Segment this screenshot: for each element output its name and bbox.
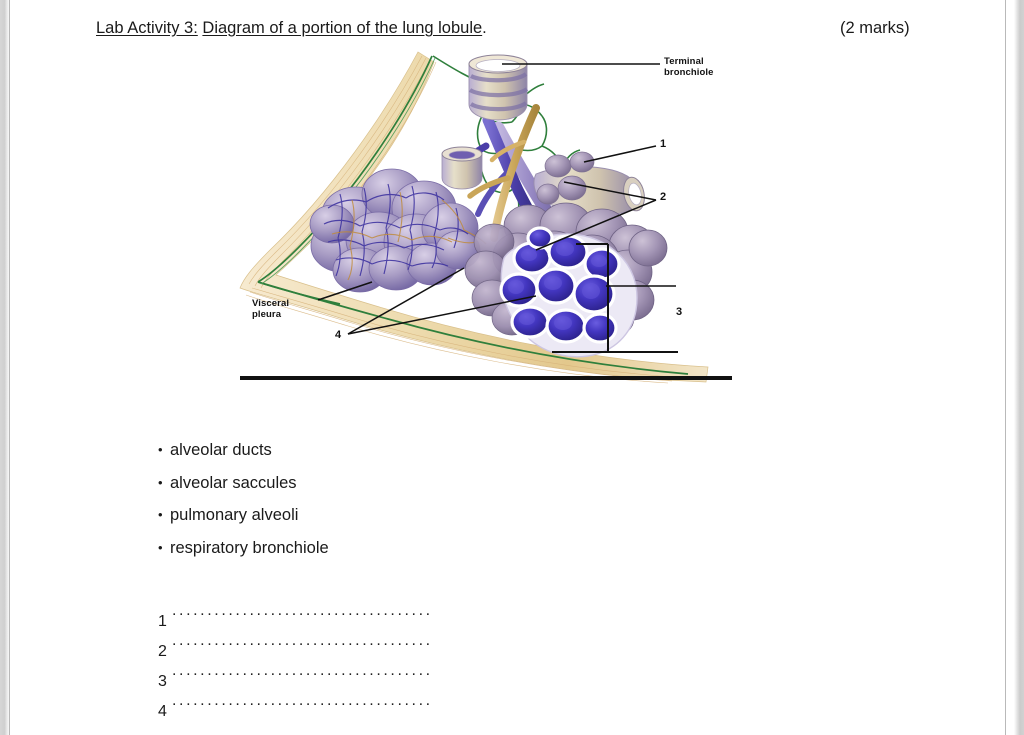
list-item: •respiratory bronchiole xyxy=(158,532,329,565)
callout-visceral-pleura: Visceral pleura xyxy=(252,298,289,320)
figure-divider-rule xyxy=(240,376,732,380)
page-title-subject: Diagram of a portion of the lung lobule xyxy=(202,19,482,37)
answer-blank-1[interactable]: ........................................ xyxy=(172,596,434,626)
page-title: Lab Activity 3: Diagram of a portion of … xyxy=(96,18,487,38)
page-title-label: Lab Activity 3: xyxy=(96,19,198,37)
lung-lobule-illustration xyxy=(236,42,736,387)
word-bank-item-label: pulmonary alveoli xyxy=(170,506,298,524)
page-title-period: . xyxy=(482,19,487,37)
word-bank-item-label: alveolar saccules xyxy=(170,474,297,492)
bullet-icon: • xyxy=(158,434,170,467)
callout-terminal-bronchiole-line2: bronchiole xyxy=(664,67,714,78)
callout-number-3: 3 xyxy=(676,307,682,318)
callout-visceral-pleura-line2: pleura xyxy=(252,309,289,320)
answer-row-2[interactable]: 2.......................................… xyxy=(158,626,434,656)
answer-number-4: 4 xyxy=(158,697,172,727)
bullet-icon: • xyxy=(158,532,170,565)
bullet-icon: • xyxy=(158,499,170,532)
callout-number-2: 2 xyxy=(660,192,666,203)
answer-blank-3[interactable]: ........................................ xyxy=(172,656,434,686)
answer-row-1[interactable]: 1.......................................… xyxy=(158,596,434,626)
list-item: •alveolar ducts xyxy=(158,434,329,467)
word-bank-item-label: respiratory bronchiole xyxy=(170,539,329,557)
word-bank: •alveolar ducts •alveolar saccules •pulm… xyxy=(158,434,329,564)
worksheet-page: Lab Activity 3: Diagram of a portion of … xyxy=(0,0,1024,735)
page-right-rail xyxy=(1014,0,1024,735)
lung-lobule-diagram xyxy=(236,42,736,387)
answer-blank-2[interactable]: ........................................ xyxy=(172,626,434,656)
bronchiole-branch-cut xyxy=(442,147,482,189)
answer-blank-4[interactable]: ........................................ xyxy=(172,686,434,716)
list-item: •pulmonary alveoli xyxy=(158,499,329,532)
callout-terminal-bronchiole-line1: Terminal xyxy=(664,56,714,67)
list-item: •alveolar saccules xyxy=(158,467,329,500)
callout-visceral-pleura-line1: Visceral xyxy=(252,298,289,309)
callout-number-4: 4 xyxy=(335,330,341,341)
respiratory-bronchiole xyxy=(534,152,647,215)
answer-lines: 1.......................................… xyxy=(158,596,434,716)
answer-row-4[interactable]: 4.......................................… xyxy=(158,686,434,716)
answer-row-3[interactable]: 3.......................................… xyxy=(158,656,434,686)
word-bank-list: •alveolar ducts •alveolar saccules •pulm… xyxy=(158,434,329,564)
page-left-rail-line xyxy=(9,0,10,735)
marks-label: (2 marks) xyxy=(840,18,910,38)
callout-terminal-bronchiole: Terminal bronchiole xyxy=(664,56,714,78)
bullet-icon: • xyxy=(158,467,170,500)
word-bank-item-label: alveolar ducts xyxy=(170,441,272,459)
page-right-rail-line xyxy=(1005,0,1006,735)
callout-number-1: 1 xyxy=(660,139,666,150)
